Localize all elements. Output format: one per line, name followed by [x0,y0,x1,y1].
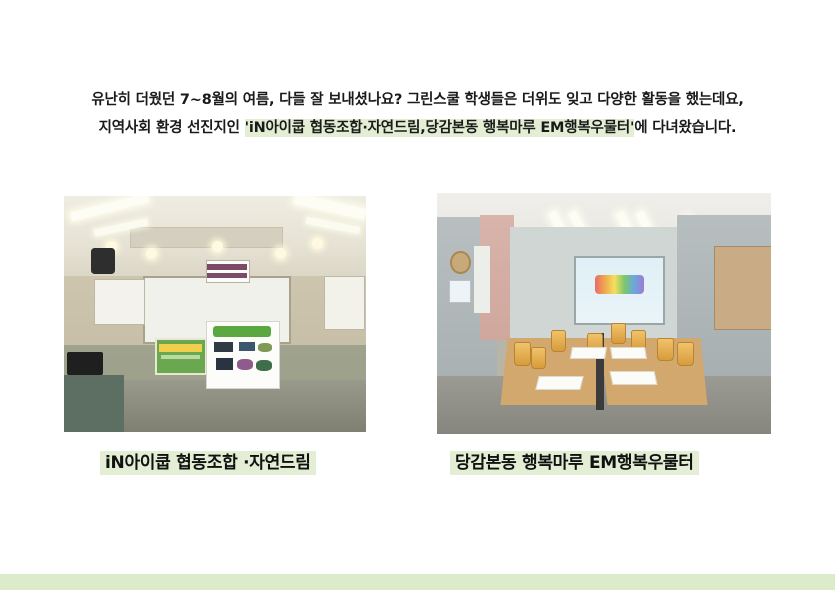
intro-paragraph: 유난히 더웠던 7~8월의 여름, 다들 잘 보내셨나요? 그린스쿨 학생들은 … [0,86,835,143]
em-jar [551,330,566,351]
caption-right-text: 당감본동 행복마루 EM행복우물터 [450,451,699,475]
caption-right: 당감본동 행복마루 EM행복우물터 [450,448,699,473]
intro-line-2: 지역사회 환경 선진지인 'iN아이쿱 협동조합·자연드림,당감본동 행복마루 … [0,114,835,142]
ceiling-vent [130,227,283,248]
intro-line-2-suffix: 에 다녀왔습니다. [634,120,736,136]
em-jar [531,347,546,368]
projection-screen [574,256,665,325]
slide: 유난히 더웠던 7~8월의 여름, 다들 잘 보내셨나요? 그린스쿨 학생들은 … [0,0,835,590]
monitor [67,352,103,376]
shelf [714,246,771,330]
worksheet [610,347,647,359]
worksheet [609,371,657,385]
side-desk [64,375,124,432]
em-jar [657,338,674,362]
poster-greenschool [206,321,280,389]
poster-green [155,338,207,375]
em-jar [611,323,626,344]
intro-line-2-highlight: 'iN아이쿱 협동조합·자연드림,당감본동 행복마루 EM행복우물터' [245,119,635,137]
downlight [146,248,157,259]
floor [437,376,771,434]
em-jar [677,342,694,366]
photo-left [64,196,366,432]
curtain [474,246,491,313]
em-jar [514,342,531,366]
intro-line-1: 유난히 더웠던 7~8월의 여름, 다들 잘 보내셨나요? 그린스쿨 학생들은 … [0,86,835,114]
notice-board [324,276,365,330]
wall-sign-text [207,273,246,278]
wall-poster [449,280,471,304]
wall-clock [450,251,471,274]
caption-left-text: iN아이쿱 협동조합 ·자연드림 [100,451,316,475]
downlight [212,241,223,252]
photo-left-scene [64,196,366,432]
wall-sign-text [207,264,246,269]
notice-board [94,279,144,326]
speaker [91,248,115,274]
worksheet [570,347,607,359]
projected-title-art [595,275,644,295]
intro-line-2-prefix: 지역사회 환경 선진지인 [99,120,245,136]
worksheet [535,376,584,390]
bottom-accent-band [0,574,835,590]
photo-right [437,193,771,434]
wall-sign [206,260,250,283]
caption-left: iN아이쿱 협동조합 ·자연드림 [100,448,316,473]
photo-right-scene [437,193,771,434]
